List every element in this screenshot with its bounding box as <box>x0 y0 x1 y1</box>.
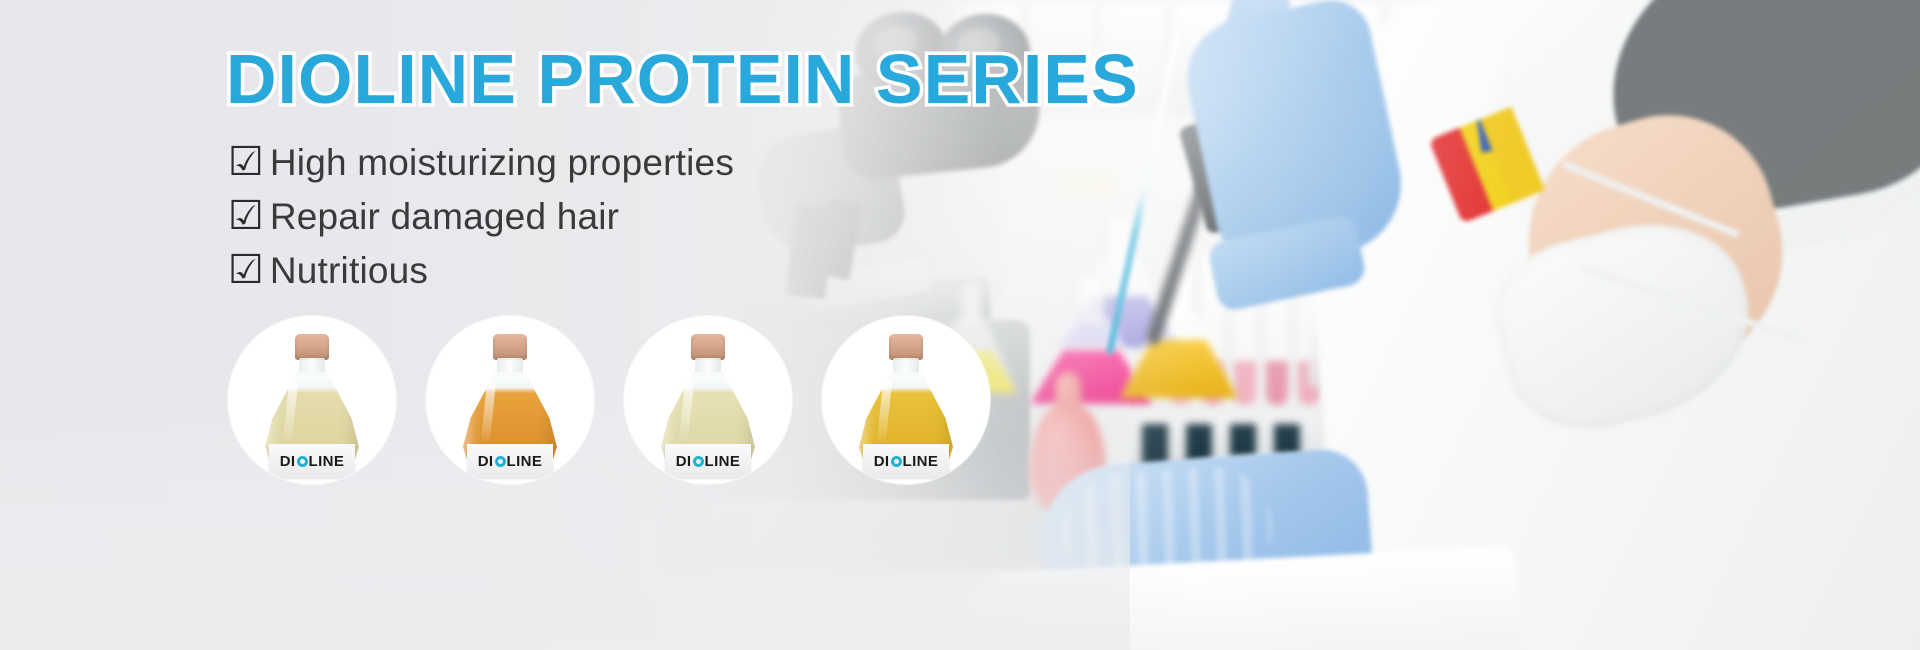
brand-wordmark: DILINE <box>280 453 345 470</box>
page-title: DIOLINE PROTEIN SERIES <box>226 44 1139 114</box>
feature-list: ☑ High moisturizing properties ☑ Repair … <box>228 136 734 298</box>
cork-stopper <box>493 334 527 360</box>
product-thumbnail[interactable]: DILINE <box>624 316 792 484</box>
cork-stopper <box>691 334 725 360</box>
feature-label: Nutritious <box>270 250 428 292</box>
product-thumbnail[interactable]: DILINE <box>426 316 594 484</box>
product-banner: DIOLINE PROTEIN SERIES ☑ High moisturizi… <box>0 0 1920 650</box>
product-bottle: DILINE <box>265 334 359 470</box>
bottle-label: DILINE <box>863 444 949 478</box>
checkbox-checked-icon: ☑ <box>228 142 264 182</box>
feature-label: Repair damaged hair <box>270 196 619 238</box>
feature-item: ☑ Nutritious <box>228 244 734 298</box>
product-thumbnail[interactable]: DILINE <box>822 316 990 484</box>
brand-wordmark: DILINE <box>874 453 939 470</box>
product-bottle: DILINE <box>859 334 953 470</box>
brand-wordmark: DILINE <box>478 453 543 470</box>
product-thumbnail[interactable]: DILINE <box>228 316 396 484</box>
checkbox-checked-icon: ☑ <box>228 250 264 290</box>
feature-item: ☑ Repair damaged hair <box>228 190 734 244</box>
brand-o-ring-icon <box>495 456 506 467</box>
checkbox-checked-icon: ☑ <box>228 196 264 236</box>
brand-o-ring-icon <box>891 456 902 467</box>
cork-stopper <box>295 334 329 360</box>
bottle-label: DILINE <box>269 444 355 478</box>
cork-stopper <box>889 334 923 360</box>
bottle-label: DILINE <box>467 444 553 478</box>
bottle-label: DILINE <box>665 444 751 478</box>
brand-wordmark: DILINE <box>676 453 741 470</box>
product-bottle: DILINE <box>463 334 557 470</box>
brand-o-ring-icon <box>297 456 308 467</box>
product-thumbnail-list: DILINE DILINE <box>228 316 1020 484</box>
feature-item: ☑ High moisturizing properties <box>228 136 734 190</box>
brand-o-ring-icon <box>693 456 704 467</box>
product-bottle: DILINE <box>661 334 755 470</box>
feature-label: High moisturizing properties <box>270 142 734 184</box>
